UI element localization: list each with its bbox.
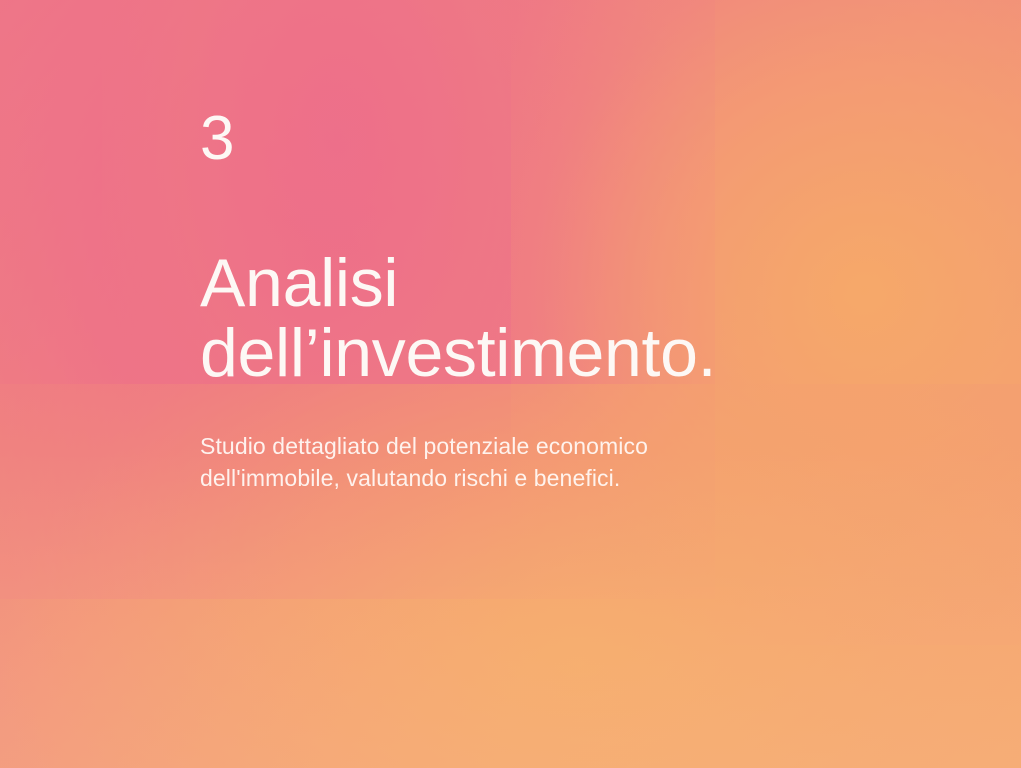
section-number: 3: [200, 108, 235, 170]
slide-title: Analisi dell’investimento.: [200, 248, 716, 388]
slide-title-line-2: dell’investimento.: [200, 318, 716, 388]
slide-content: 3 Analisi dell’investimento. Studio dett…: [200, 0, 960, 768]
slide-title-line-1: Analisi: [200, 248, 716, 318]
slide-subtitle-line-1: Studio dettagliato del potenziale econom…: [200, 430, 648, 462]
slide-subtitle-line-2: dell'immobile, valutando rischi e benefi…: [200, 462, 648, 494]
slide-subtitle: Studio dettagliato del potenziale econom…: [200, 430, 648, 494]
slide-canvas: 3 Analisi dell’investimento. Studio dett…: [0, 0, 1021, 768]
